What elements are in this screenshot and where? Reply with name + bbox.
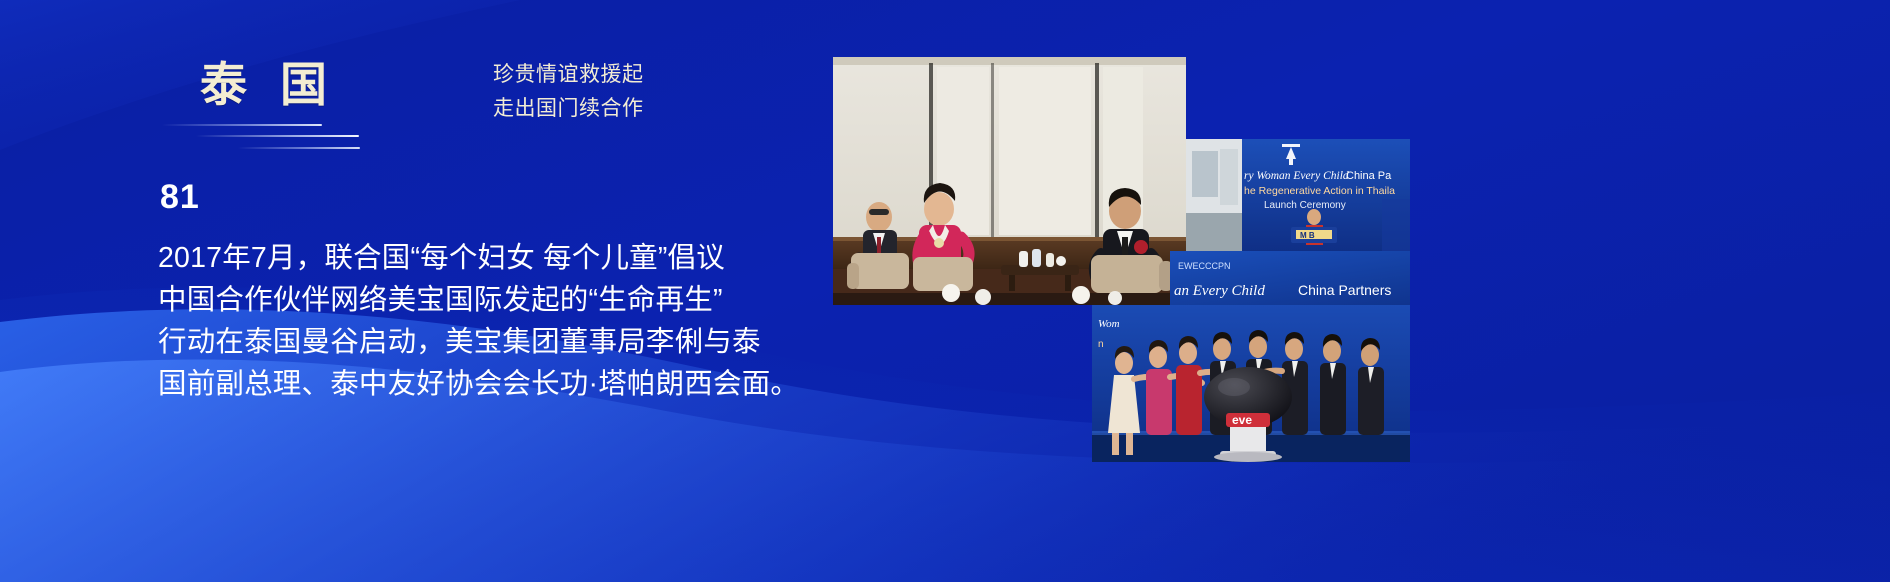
svg-text:he Regenerative Action in Thai: he Regenerative Action in Thaila: [1244, 185, 1395, 197]
meeting-photo: [833, 57, 1186, 305]
svg-text:Launch Ceremony: Launch Ceremony: [1264, 200, 1346, 211]
svg-text:Wom: Wom: [1098, 318, 1120, 330]
launch-banner-photo: ry Woman Every Child China Pa he Regener…: [1186, 139, 1410, 251]
svg-text:ry Woman Every Child: ry Woman Every Child: [1244, 170, 1349, 182]
meeting-photo-art: [833, 57, 1186, 305]
svg-text:M B: M B: [1300, 231, 1315, 240]
svg-text:EWECCCPN: EWECCCPN: [1178, 261, 1231, 271]
svg-text:China Partners: China Partners: [1298, 282, 1391, 298]
slide-root: 泰 国 珍贵情谊救援起 走出国门续合作 81 2017年7月，联合国“每个妇女 …: [0, 0, 1890, 582]
svg-text:n: n: [1098, 339, 1104, 350]
svg-text:China Pa: China Pa: [1346, 170, 1392, 182]
launch-banner-art: ry Woman Every Child China Pa he Regener…: [1186, 139, 1410, 251]
group-launch-art: Wom n: [1092, 305, 1410, 462]
photo-collage: ry Woman Every Child China Pa he Regener…: [0, 0, 1890, 582]
svg-text:an Every Child: an Every Child: [1174, 283, 1265, 299]
svg-text:eve: eve: [1232, 413, 1252, 427]
group-launch-photo: Wom n: [1092, 305, 1410, 462]
